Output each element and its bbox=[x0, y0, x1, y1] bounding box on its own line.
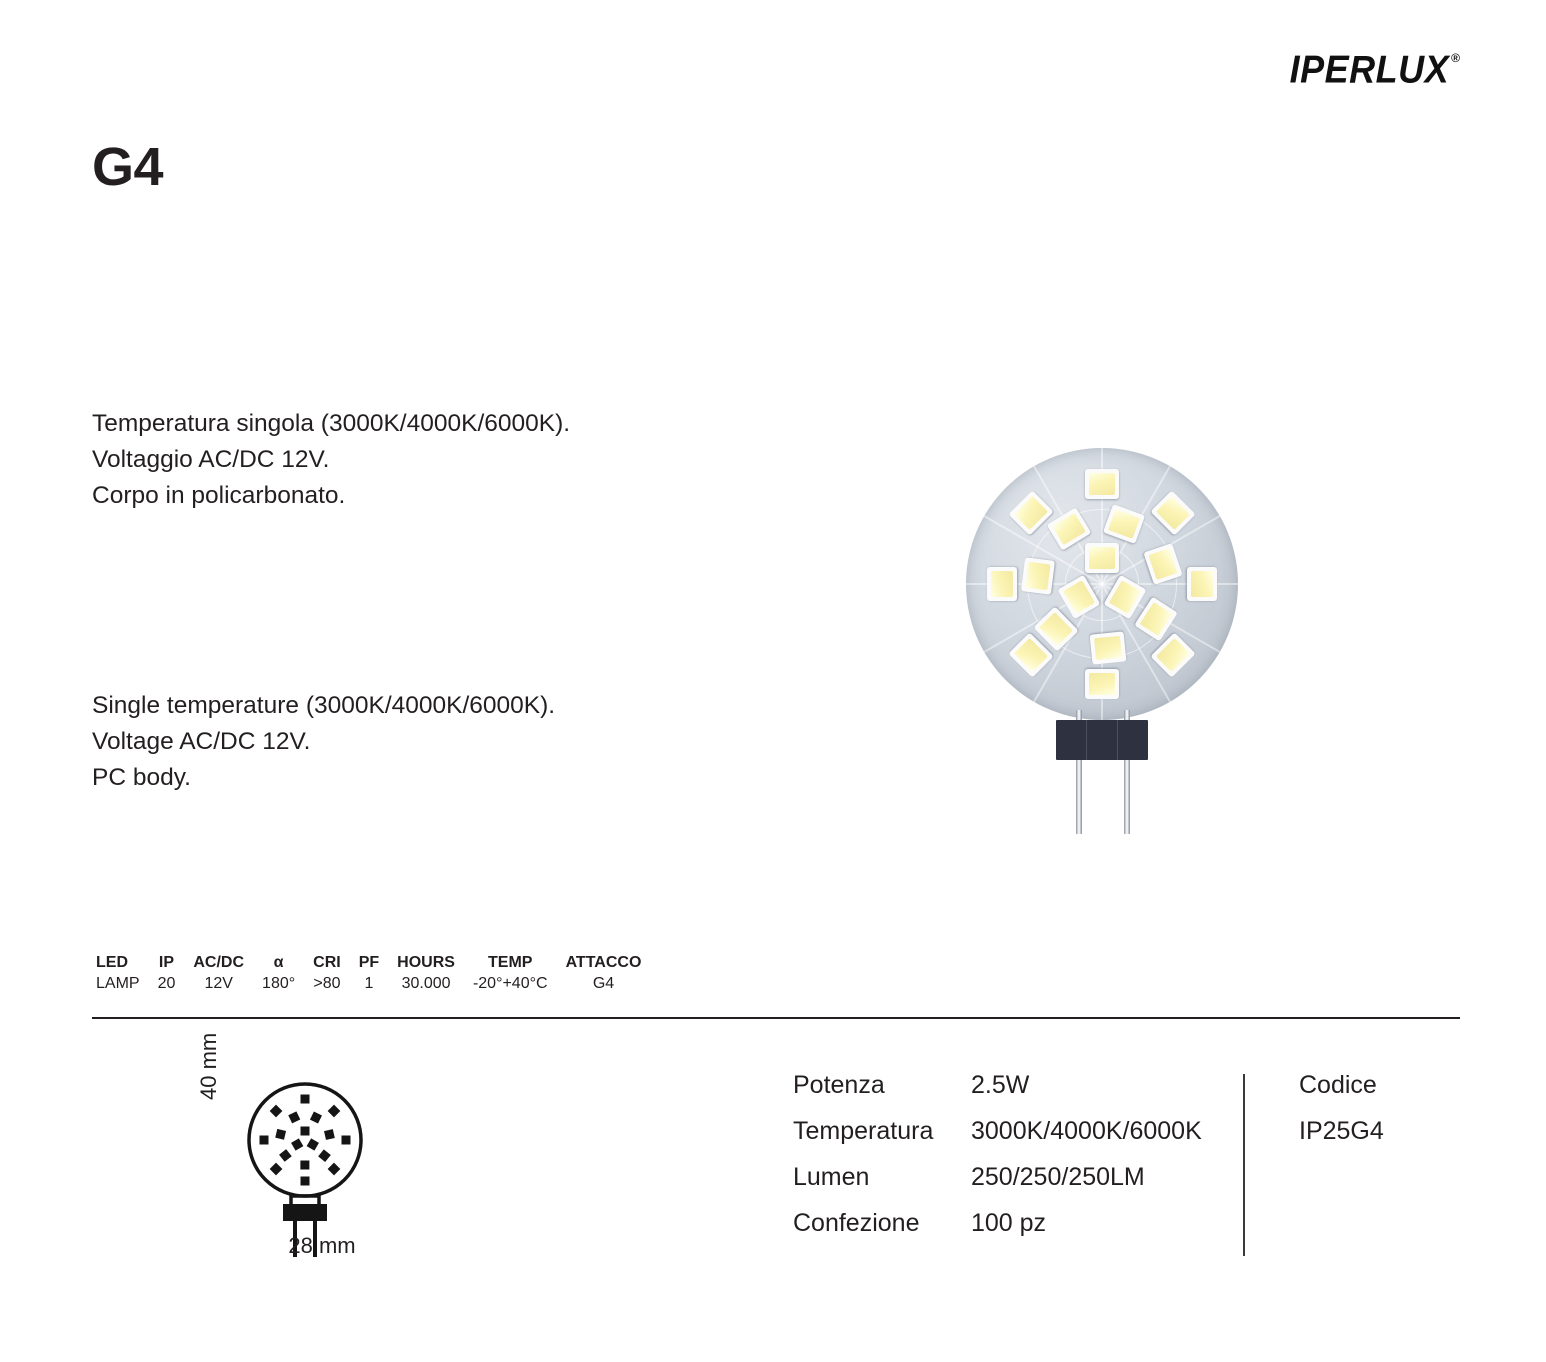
code-value: IP25G4 bbox=[1299, 1116, 1384, 1146]
spec-value-potenza: 2.5W bbox=[971, 1070, 1261, 1116]
diagram-led-marker bbox=[328, 1105, 341, 1118]
spec-header-pf: PF bbox=[350, 952, 388, 973]
diagram-led-marker bbox=[324, 1129, 335, 1140]
spec-strip-header-row: LED IP AC/DC α CRI PF HOURS TEMP ATTACCO bbox=[92, 952, 650, 973]
spec-value-alpha: 180° bbox=[253, 973, 304, 994]
spec-header-alpha: α bbox=[253, 952, 304, 973]
spec-header-temp: TEMP bbox=[464, 952, 557, 973]
diagram-led-marker bbox=[275, 1129, 286, 1140]
product-photo bbox=[958, 448, 1248, 848]
spec-key-potenza: Potenza bbox=[793, 1070, 971, 1116]
lamp-base-block bbox=[1056, 720, 1148, 760]
spec-value-temperatura: 3000K/4000K/6000K bbox=[971, 1116, 1261, 1162]
spec-key-temperatura: Temperatura bbox=[793, 1116, 971, 1162]
page-title: G4 bbox=[92, 140, 163, 194]
diagram-led-marker bbox=[279, 1149, 292, 1162]
diagram-base bbox=[283, 1204, 327, 1221]
led-chip bbox=[1021, 557, 1055, 594]
spec-value-confezione: 100 pz bbox=[971, 1208, 1261, 1254]
led-chip bbox=[1085, 669, 1119, 699]
diagram-led-marker bbox=[300, 1160, 309, 1169]
diagram-led-marker bbox=[318, 1149, 331, 1162]
spec-header-acdc: AC/DC bbox=[184, 952, 253, 973]
led-chip bbox=[987, 567, 1017, 601]
code-label: Codice bbox=[1299, 1070, 1384, 1100]
code-column-divider bbox=[1243, 1074, 1245, 1256]
spec-value-ip: 20 bbox=[149, 973, 185, 994]
spec-strip-value-row: LAMP 20 12V 180° >80 1 30.000 -20°+40°C … bbox=[92, 973, 650, 994]
table-row: Temperatura 3000K/4000K/6000K bbox=[793, 1116, 1261, 1162]
spec-value-acdc: 12V bbox=[184, 973, 253, 994]
product-spec-table: Potenza 2.5W Temperatura 3000K/4000K/600… bbox=[793, 1070, 1261, 1254]
spec-value-temp: -20°+40°C bbox=[464, 973, 557, 994]
spec-key-lumen: Lumen bbox=[793, 1162, 971, 1208]
diagram-led-marker bbox=[307, 1138, 319, 1150]
spec-strip: LED IP AC/DC α CRI PF HOURS TEMP ATTACCO… bbox=[92, 952, 650, 994]
registered-trademark-icon: ® bbox=[1451, 52, 1460, 64]
spec-strip-row-label-top: LED bbox=[92, 952, 149, 973]
spec-value-lumen: 250/250/250LM bbox=[971, 1162, 1261, 1208]
led-pcb-disc bbox=[966, 448, 1238, 720]
spec-strip-table: LED IP AC/DC α CRI PF HOURS TEMP ATTACCO… bbox=[92, 952, 650, 994]
diagram-led-marker bbox=[328, 1163, 341, 1176]
spec-table-body: Potenza 2.5W Temperatura 3000K/4000K/600… bbox=[793, 1070, 1261, 1254]
spec-value-attacco: G4 bbox=[557, 973, 651, 994]
diagram-led-marker bbox=[291, 1138, 303, 1150]
diagram-led-marker bbox=[301, 1095, 310, 1104]
brand-logo: IPERLUX ® bbox=[1290, 50, 1460, 86]
table-row: Potenza 2.5W bbox=[793, 1070, 1261, 1116]
section-divider-rule bbox=[92, 1017, 1460, 1019]
base-segment-divider bbox=[1086, 720, 1087, 760]
diagram-led-marker bbox=[301, 1177, 310, 1186]
led-chip bbox=[1009, 491, 1054, 536]
diagram-led-marker bbox=[342, 1136, 351, 1145]
spec-header-hours: HOURS bbox=[388, 952, 464, 973]
spec-value-hours: 30.000 bbox=[388, 973, 464, 994]
description-english: Single temperature (3000K/4000K/6000K). … bbox=[92, 688, 555, 796]
diagram-led-marker bbox=[260, 1136, 269, 1145]
led-chip bbox=[1187, 567, 1217, 601]
dimension-height-label: 40 mm bbox=[196, 1033, 222, 1100]
spec-value-pf: 1 bbox=[350, 973, 388, 994]
spec-header-cri: CRI bbox=[304, 952, 350, 973]
dimension-width-label: 28 mm bbox=[232, 1233, 412, 1259]
led-chip bbox=[1150, 491, 1195, 536]
description-italian: Temperatura singola (3000K/4000K/6000K).… bbox=[92, 406, 570, 514]
diagram-led-marker bbox=[310, 1112, 322, 1124]
led-chip bbox=[1085, 469, 1119, 499]
table-row: Lumen 250/250/250LM bbox=[793, 1162, 1261, 1208]
diagram-led-marker bbox=[301, 1127, 310, 1136]
spec-strip-row-label-bottom: LAMP bbox=[92, 973, 149, 994]
product-code-block: Codice IP25G4 bbox=[1299, 1070, 1384, 1146]
led-chip bbox=[1090, 631, 1127, 664]
diagram-led-marker bbox=[288, 1111, 300, 1123]
spec-key-confezione: Confezione bbox=[793, 1208, 971, 1254]
spec-header-ip: IP bbox=[149, 952, 185, 973]
base-segment-divider bbox=[1117, 720, 1118, 760]
diagram-led-marker bbox=[270, 1163, 283, 1176]
table-row: Confezione 100 pz bbox=[793, 1208, 1261, 1254]
brand-wordmark: IPERLUX bbox=[1290, 50, 1450, 89]
diagram-led-marker bbox=[270, 1105, 283, 1118]
spec-value-cri: >80 bbox=[304, 973, 350, 994]
led-chip bbox=[1085, 543, 1119, 573]
spec-header-attacco: ATTACCO bbox=[557, 952, 651, 973]
